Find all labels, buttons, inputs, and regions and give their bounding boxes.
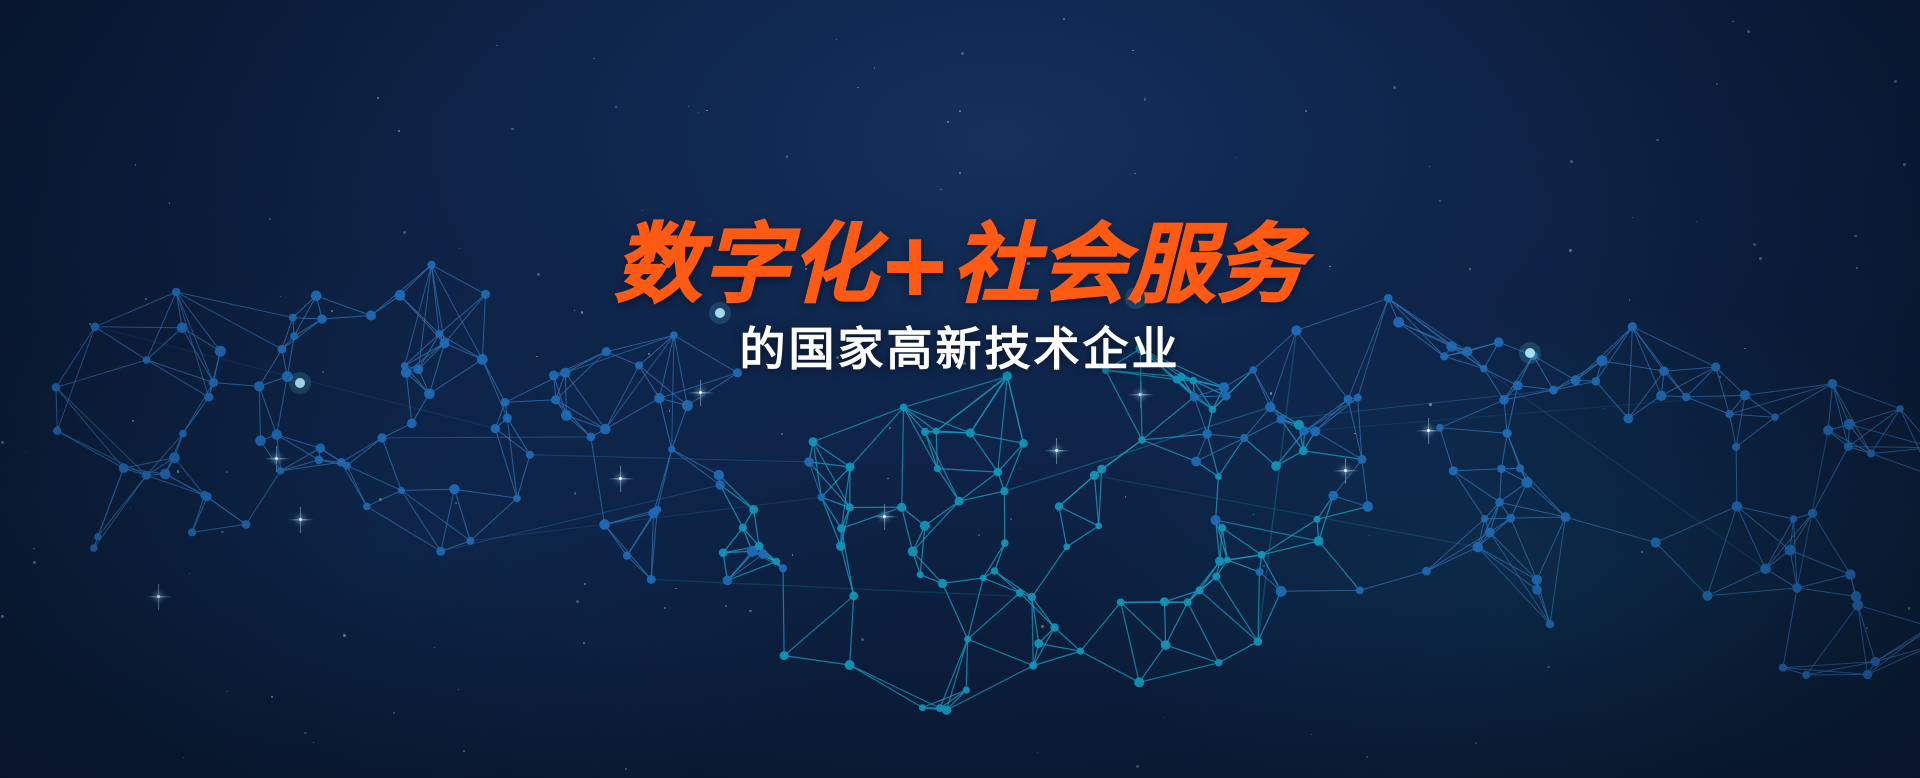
hero-banner: 数字化+社会服务 的国家高新技术企业 [0,0,1920,778]
hero-text-block: 数字化+社会服务 的国家高新技术企业 [0,222,1920,372]
page-subtitle: 的国家高新技术企业 [0,326,1920,372]
background-vignette [0,0,1920,778]
page-title: 数字化+社会服务 [0,222,1920,308]
